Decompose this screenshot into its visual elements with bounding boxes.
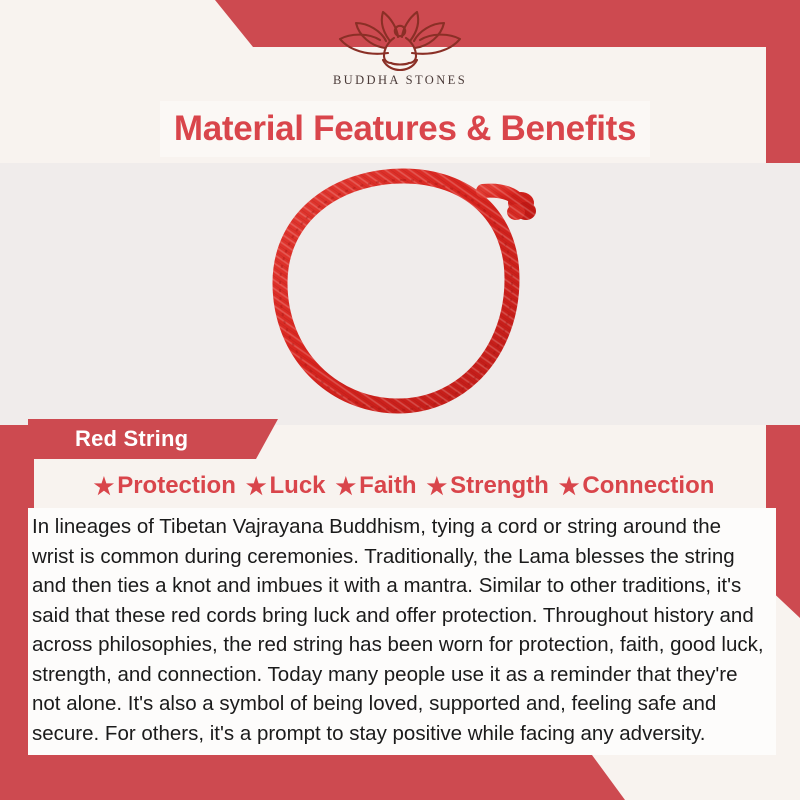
product-name-label: Red String: [28, 426, 188, 452]
infographic-page: BUDDHA STONES Material Features & Benefi…: [0, 0, 800, 800]
benefit-item-connection: ★ Connection: [559, 472, 715, 500]
brand-name: BUDDHA STONES: [333, 73, 467, 88]
description-text: In lineages of Tibetan Vajrayana Buddhis…: [28, 508, 776, 748]
product-name-ribbon: Red String: [28, 419, 278, 459]
benefit-label: Luck: [270, 472, 326, 500]
star-icon: ★: [246, 475, 267, 498]
lotus-meditation-icon: [325, 8, 475, 72]
description-panel: In lineages of Tibetan Vajrayana Buddhis…: [28, 508, 776, 755]
page-title: Material Features & Benefits: [174, 109, 636, 149]
benefit-label: Faith: [359, 472, 416, 500]
benefit-item-luck: ★ Luck: [246, 472, 326, 500]
page-title-band: Material Features & Benefits: [160, 101, 650, 157]
benefit-label: Protection: [117, 472, 236, 500]
benefit-label: Connection: [582, 472, 714, 500]
benefit-item-protection: ★ Protection: [94, 472, 236, 500]
benefits-row: ★ Protection ★ Luck ★ Faith ★ Strength ★…: [34, 464, 774, 508]
product-photo: [0, 163, 800, 425]
star-icon: ★: [336, 475, 357, 498]
star-icon: ★: [559, 475, 580, 498]
brand-logo: BUDDHA STONES: [0, 8, 800, 100]
benefit-item-faith: ★ Faith: [336, 472, 417, 500]
decor-bottom-red-bar: [0, 755, 800, 800]
benefit-item-strength: ★ Strength: [426, 472, 548, 500]
star-icon: ★: [426, 475, 447, 498]
red-string-bracelet-image: [235, 163, 565, 425]
star-icon: ★: [94, 475, 115, 498]
benefit-label: Strength: [450, 472, 549, 500]
